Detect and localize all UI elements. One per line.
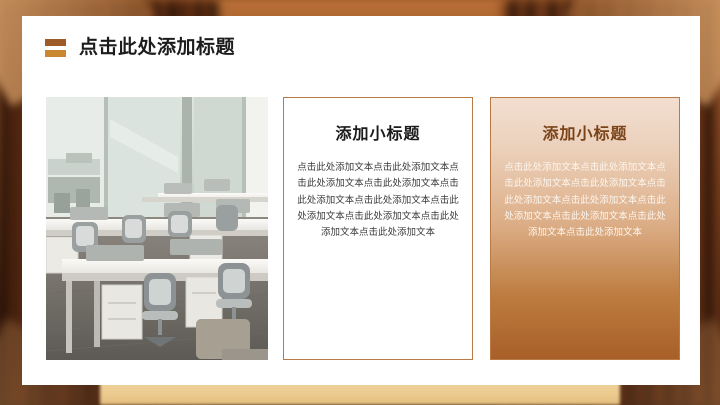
- slide-card: 点击此处添加标题: [22, 16, 700, 385]
- panel-middle-subtitle: 添加小标题: [290, 120, 466, 144]
- panel-middle-body: 点击此处添加文本点击此处添加文本点击此处添加文本点击此处添加文本点击此处添加文本…: [290, 160, 466, 242]
- double-bar-icon: [45, 39, 66, 57]
- office-workspace-photo: [46, 97, 268, 360]
- content-panel-right: 添加小标题 点击此处添加文本点击此处添加文本点击此处添加文本点击此处添加文本点击…: [490, 97, 680, 360]
- panel-right-subtitle: 添加小标题: [497, 120, 673, 144]
- photo-illustration: [46, 97, 268, 360]
- slide-title-row: 点击此处添加标题: [45, 38, 235, 57]
- page-title: 点击此处添加标题: [79, 38, 235, 57]
- panel-right-body: 点击此处添加文本点击此处添加文本点击此处添加文本点击此处添加文本点击此处添加文本…: [497, 160, 673, 242]
- content-panel-middle: 添加小标题 点击此处添加文本点击此处添加文本点击此处添加文本点击此处添加文本点击…: [283, 97, 473, 360]
